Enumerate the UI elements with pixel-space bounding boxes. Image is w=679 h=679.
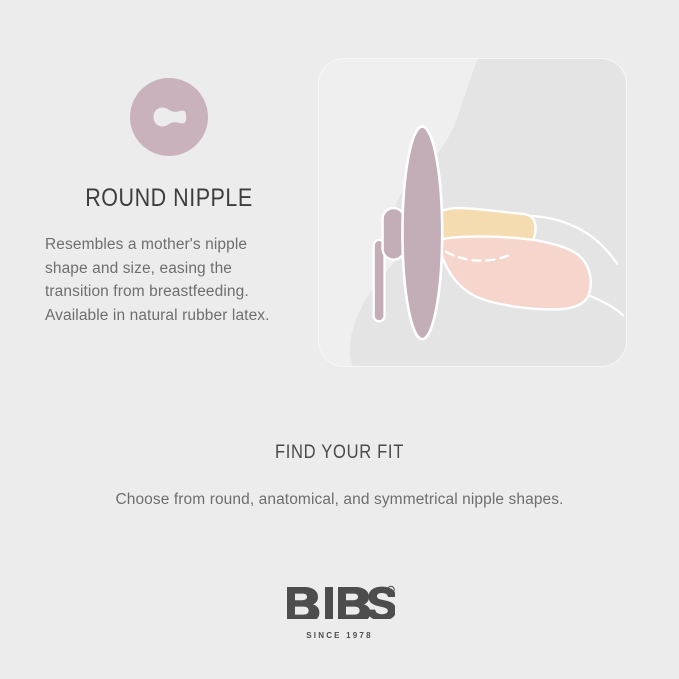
brand-footer: R SINCE 1978 [0, 585, 679, 640]
top-section: ROUND NIPPLE Resembles a mother's nipple… [0, 0, 679, 400]
fit-heading: FIND YOUR FIT [44, 443, 635, 462]
round-nipple-icon [130, 78, 208, 156]
feature-title: ROUND NIPPLE [62, 186, 275, 211]
feature-description: Resembles a mother's nipple shape and si… [45, 233, 293, 327]
svg-text:R: R [389, 587, 392, 592]
pacifier-shield [402, 127, 442, 340]
bibs-logo: R [285, 585, 395, 619]
feature-icon-container [45, 78, 293, 156]
brand-tagline: SINCE 1978 [0, 631, 679, 640]
pacifier-in-mouth-illustration [319, 59, 626, 366]
pacifier-ring [383, 208, 405, 260]
fit-subtitle: Choose from round, anatomical, and symme… [0, 489, 679, 511]
feature-column: ROUND NIPPLE Resembles a mother's nipple… [45, 78, 293, 327]
find-your-fit-section: FIND YOUR FIT Choose from round, anatomi… [0, 443, 679, 511]
illustration-card [318, 58, 627, 367]
